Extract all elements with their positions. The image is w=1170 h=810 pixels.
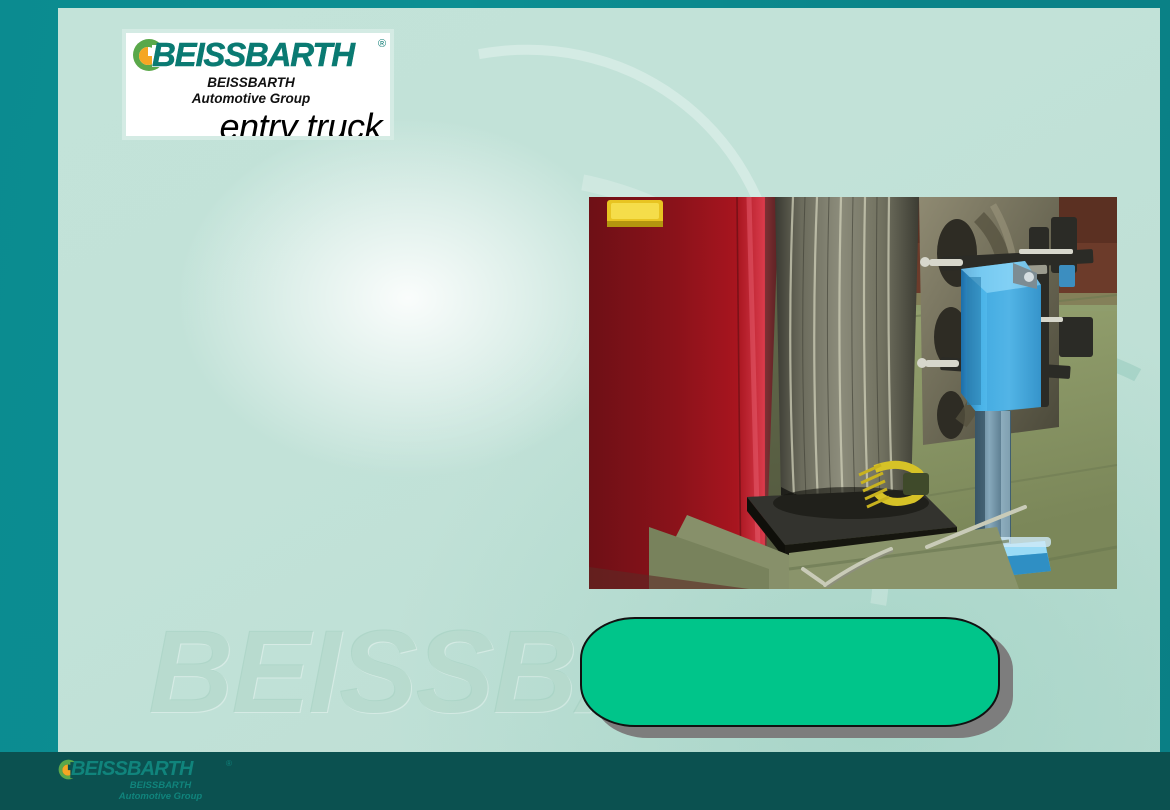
logo-brand-row: BEISSBARTH ® bbox=[130, 36, 388, 74]
logo-subtitle-line-1: BEISSBARTH bbox=[126, 75, 376, 90]
footer-logo-brand-row: BEISSBARTH ® bbox=[58, 758, 298, 780]
product-title: entry truck bbox=[126, 109, 382, 136]
footer-beissbarth-logo: BEISSBARTH ® BEISSBARTH Automotive Group bbox=[58, 758, 298, 806]
wheel-alignment-photo bbox=[589, 197, 1117, 589]
slide-footer: BEISSBARTH ® BEISSBARTH Automotive Group bbox=[0, 752, 1170, 810]
footer-subtitle-line-2: Automotive Group bbox=[58, 791, 263, 802]
footer-brand-text: BEISSBARTH bbox=[71, 758, 193, 781]
green-callout-box[interactable] bbox=[580, 617, 1000, 727]
photo-illustration bbox=[589, 197, 1117, 589]
registered-mark-icon: ® bbox=[378, 38, 386, 50]
beissbarth-logo-card: BEISSBARTH ® BEISSBARTH Automotive Group… bbox=[126, 33, 390, 136]
slide-content-panel: BEISSBARTH bbox=[58, 8, 1160, 752]
logo-brand-text: BEISSBARTH bbox=[152, 36, 354, 74]
slide-root: BEISSBARTH bbox=[0, 0, 1170, 810]
registered-mark-icon: ® bbox=[226, 759, 232, 768]
footer-subtitle-line-1: BEISSBARTH bbox=[58, 780, 263, 791]
logo-subtitle-line-2: Automotive Group bbox=[126, 91, 376, 106]
